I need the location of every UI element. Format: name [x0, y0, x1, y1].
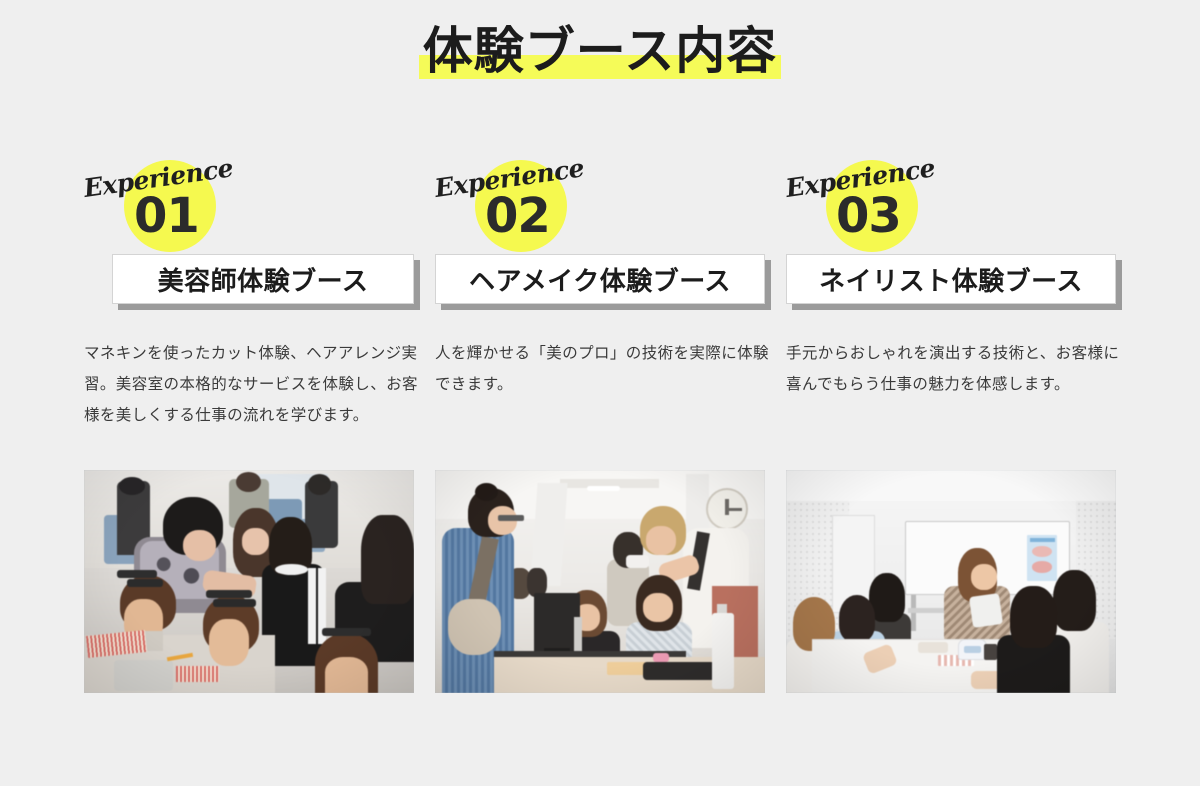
booth-description-03: 手元からおしゃれを演出する技術と、お客様に喜んでもらう仕事の魅力を体感します。 — [786, 338, 1122, 400]
booth-photo-02 — [435, 470, 765, 693]
page-title-text: 体験ブース内容 — [423, 22, 778, 80]
badge-number-label: 01 — [134, 190, 199, 242]
page-title: 体験ブース内容 — [0, 18, 1200, 90]
experience-badge-02: Experience 02 — [435, 158, 765, 254]
plate-surface: ヘアメイク体験ブース — [435, 254, 765, 304]
booth-description-01: マネキンを使ったカット体験、ヘアアレンジ実習。美容室の本格的なサービスを体験し、… — [84, 338, 420, 431]
booth-description-02: 人を輝かせる「美のプロ」の技術を実際に体験できます。 — [435, 338, 771, 400]
booth-photo-01 — [84, 470, 414, 693]
booth-title-plate-03: ネイリスト体験ブース — [786, 254, 1116, 310]
experience-badge-01: Experience 01 — [84, 158, 414, 254]
experience-badge-03: Experience 03 — [786, 158, 1116, 254]
plate-surface: ネイリスト体験ブース — [786, 254, 1116, 304]
booth-title-text: ネイリスト体験ブース — [819, 261, 1083, 298]
booth-photo-03 — [786, 470, 1116, 693]
experience-columns: Experience 01 美容師体験ブース マネキンを使ったカット体験、ヘアア… — [84, 158, 1116, 698]
experience-card-02: Experience 02 ヘアメイク体験ブース 人を輝かせる「美のプロ」の技術… — [435, 158, 765, 400]
booth-title-text: ヘアメイク体験ブース — [469, 261, 731, 298]
plate-surface: 美容師体験ブース — [112, 254, 414, 304]
experience-card-03: Experience 03 ネイリスト体験ブース 手元からおしゃれを演出する技術… — [786, 158, 1116, 400]
booth-title-plate-02: ヘアメイク体験ブース — [435, 254, 765, 310]
badge-number-label: 02 — [485, 190, 550, 242]
experience-card-01: Experience 01 美容師体験ブース マネキンを使ったカット体験、ヘアア… — [84, 158, 414, 431]
booth-title-plate-01: 美容師体験ブース — [112, 254, 414, 310]
badge-number-label: 03 — [836, 190, 901, 242]
booth-title-text: 美容師体験ブース — [158, 261, 369, 298]
